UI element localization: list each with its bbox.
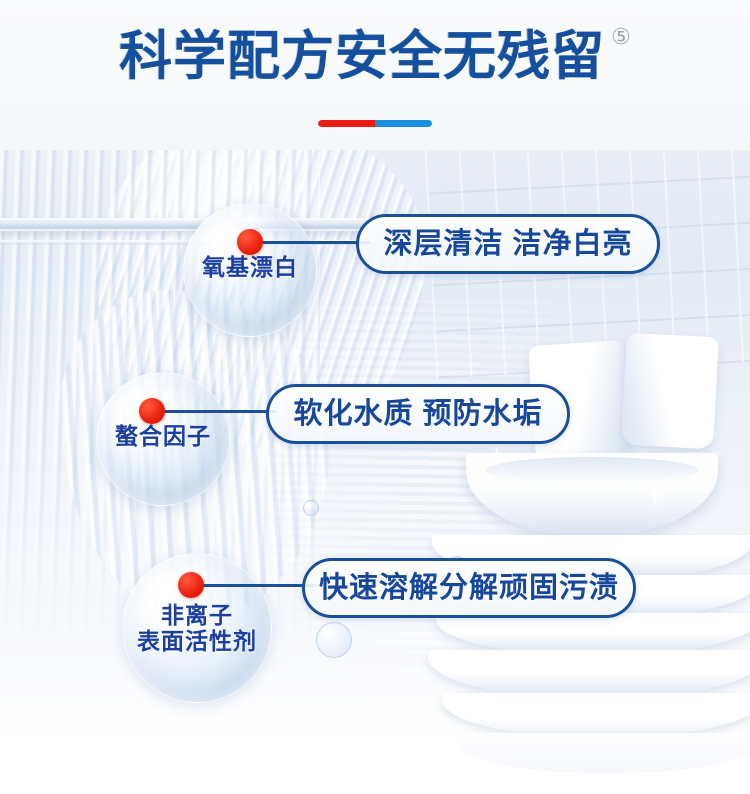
title-part-1: 科学配方 <box>119 26 335 88</box>
page-title: 科学配方安全无残留⑤ <box>0 26 750 88</box>
feature-pill-3-text: 快速溶解分解顽固污渍 <box>319 572 619 604</box>
feature-bubble-1[interactable]: 氧基漂白 <box>183 203 317 337</box>
feature-pill-2-text: 软化水质 预防水垢 <box>293 398 542 430</box>
divider-red-segment <box>318 120 375 127</box>
feature-bubble-3-label-line2: 表面活性剂 <box>123 628 271 654</box>
product-feature-poster: 科学配方安全无残留⑤ 氧基漂白 深层清洁 洁净白亮 螯合因子 软化水质 预防水垢 <box>0 0 750 794</box>
feature-bubble-1-label-line1: 氧基漂白 <box>202 254 298 280</box>
feature-pill-1[interactable]: 深层清洁 洁净白亮 <box>356 214 660 274</box>
plate-6 <box>454 733 750 773</box>
title-part-2: 安全无残留 <box>335 26 605 88</box>
title-superscript-marker: ⑤ <box>611 24 631 50</box>
feature-bubble-2[interactable]: 螯合因子 <box>96 372 230 506</box>
feature-dot-1 <box>237 229 263 255</box>
feature-pill-2[interactable]: 软化水质 预防水垢 <box>266 384 570 444</box>
feature-connector-3 <box>198 584 316 587</box>
bowl-inner-rim <box>486 457 698 483</box>
plate-3 <box>436 613 750 655</box>
divider-blue-segment <box>375 120 432 127</box>
feature-bubble-3-label: 非离子 表面活性剂 <box>123 602 271 654</box>
cup-right <box>621 333 719 450</box>
header: 科学配方安全无残留⑤ <box>0 0 750 150</box>
feature-bubble-3-label-line1: 非离子 <box>123 602 271 628</box>
decorative-bubble <box>303 500 319 516</box>
feature-pill-3[interactable]: 快速溶解分解顽固污渍 <box>302 558 636 618</box>
feature-pill-1-text: 深层清洁 洁净白亮 <box>383 228 632 260</box>
feature-connector-1 <box>258 241 370 244</box>
feature-bubble-2-label-line1: 螯合因子 <box>115 423 211 449</box>
decorative-bubble <box>316 622 352 658</box>
feature-dot-2 <box>139 398 165 424</box>
feature-connector-2 <box>160 410 276 413</box>
title-divider <box>318 120 432 127</box>
feature-bubble-2-label: 螯合因子 <box>97 423 229 449</box>
plate-4 <box>428 650 750 698</box>
feature-bubble-1-label: 氧基漂白 <box>184 254 316 280</box>
plate-5 <box>442 693 750 737</box>
feature-dot-3 <box>178 572 204 598</box>
